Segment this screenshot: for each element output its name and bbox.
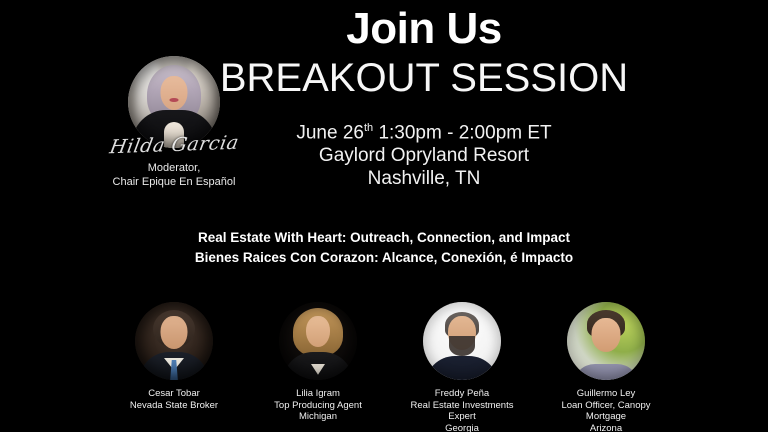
photo-vignette (279, 302, 357, 380)
session-title-spanish: Bienes Raices Con Corazon: Alcance, Cone… (84, 248, 684, 268)
panelist-caption: Lilia Igram Top Producing Agent Michigan (254, 388, 382, 423)
session-title: Real Estate With Heart: Outreach, Connec… (84, 228, 684, 268)
panelist-role: Real Estate Investments Expert (398, 400, 526, 423)
panelist-name: Guillermo Ley (542, 388, 670, 400)
panelist-item: Freddy Peña Real Estate Investments Expe… (398, 302, 526, 432)
event-city: Nashville, TN (224, 167, 624, 190)
panelist-item: Guillermo Ley Loan Officer, Canopy Mortg… (542, 302, 670, 432)
session-title-english: Real Estate With Heart: Outreach, Connec… (84, 228, 684, 248)
panelist-item: Lilia Igram Top Producing Agent Michigan (254, 302, 382, 432)
panelist-photo-freddy-pena (423, 302, 501, 380)
photo-vignette (423, 302, 501, 380)
moderator-affiliation-line: Chair Epique En Español (113, 176, 236, 188)
panelist-photo-cesar-tobar (135, 302, 213, 380)
panelist-caption: Guillermo Ley Loan Officer, Canopy Mortg… (542, 388, 670, 432)
panelist-name: Cesar Tobar (110, 388, 238, 400)
panelist-photo-guillermo-ley (567, 302, 645, 380)
photo-vignette (135, 302, 213, 380)
panelist-role: Loan Officer, Canopy Mortgage (542, 400, 670, 423)
event-date-prefix: June 26 (296, 122, 364, 143)
event-details: June 26th 1:30pm - 2:00pm ET Gaylord Opr… (224, 117, 624, 190)
headline-breakout-session: BREAKOUT SESSION (204, 56, 644, 100)
panelist-photo-lilia-igram (279, 302, 357, 380)
panelist-list: Cesar Tobar Nevada State Broker Lilia Ig… (110, 302, 670, 432)
panelist-location: Arizona (542, 423, 670, 432)
headline-join-us: Join Us (224, 6, 624, 52)
photo-vignette (567, 302, 645, 380)
moderator-role-line: Moderator, (148, 162, 201, 174)
event-poster: Hilda Garcia Moderator, Chair Epique En … (0, 0, 768, 432)
panelist-role: Top Producing Agent (254, 400, 382, 412)
event-time: 1:30pm - 2:00pm ET (373, 122, 551, 143)
panelist-role: Nevada State Broker (110, 400, 238, 412)
panelist-location: Georgia (398, 423, 526, 432)
event-date-line: June 26th 1:30pm - 2:00pm ET (224, 117, 624, 144)
panelist-caption: Cesar Tobar Nevada State Broker (110, 388, 238, 411)
panelist-location: Michigan (254, 411, 382, 423)
panelist-name: Lilia Igram (254, 388, 382, 400)
panelist-item: Cesar Tobar Nevada State Broker (110, 302, 238, 432)
panelist-name: Freddy Peña (398, 388, 526, 400)
panelist-caption: Freddy Peña Real Estate Investments Expe… (398, 388, 526, 432)
event-date-ordinal: th (364, 122, 373, 134)
event-venue: Gaylord Opryland Resort (224, 144, 624, 167)
